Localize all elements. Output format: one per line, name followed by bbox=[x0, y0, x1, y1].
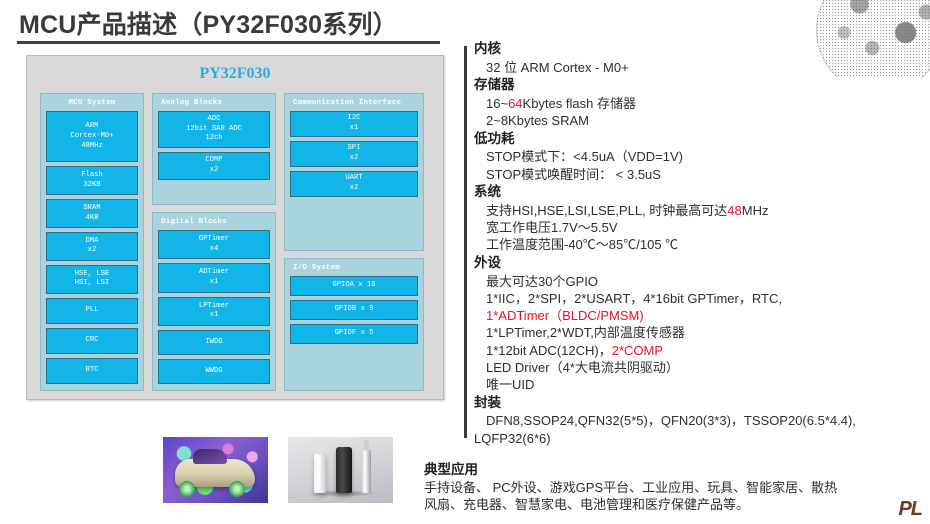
spec-lowpower-wake: STOP模式唤醒时间： < 3.5uS bbox=[486, 166, 924, 183]
diagram-column-mcu: MCU System ARM Cortex-M0+ 48MHz Flash 32… bbox=[40, 93, 144, 391]
block-spi: SPI x2 bbox=[290, 141, 418, 167]
spec-periph-uid: 唯一UID bbox=[486, 376, 924, 393]
group-mcu-system: MCU System ARM Cortex-M0+ 48MHz Flash 32… bbox=[40, 93, 144, 391]
block-gpiob: GPIOB x 9 bbox=[290, 300, 418, 320]
block-uart: UART x2 bbox=[290, 171, 418, 197]
applications-line-1: 手持设备、 PC外设、游戏GPS平台、工业应用、玩具、智能家居、散热 bbox=[424, 479, 894, 497]
brand-logo: PL bbox=[898, 498, 922, 521]
spec-heading-memory: 存储器 bbox=[474, 77, 924, 94]
spec-periph-buses: 1*IIC，2*SPI，2*USART，4*16bit GPTimer，RTC, bbox=[486, 290, 924, 307]
spec-periph-lptimer: 1*LPTimer,2*WDT,内部温度传感器 bbox=[486, 324, 924, 341]
group-title: I/O System bbox=[290, 264, 418, 272]
page-title: MCU产品描述（PY32F030系列） bbox=[19, 5, 398, 41]
block-pll: PLL bbox=[46, 298, 138, 324]
diagram-title: PY32F030 bbox=[27, 65, 443, 83]
toy-car-photo bbox=[163, 437, 268, 503]
spec-core-line: 32 位 ARM Cortex - M0+ bbox=[486, 59, 924, 76]
block-gpiof: GPIOF x 5 bbox=[290, 324, 418, 344]
block-diagram: PY32F030 MCU System ARM Cortex-M0+ 48MHz… bbox=[26, 55, 444, 400]
block-crc: CRC bbox=[46, 328, 138, 354]
block-iwdg: IWDG bbox=[158, 330, 270, 355]
group-title: Analog Blocks bbox=[158, 99, 270, 107]
spec-package-line1: DFN8,SSOP24,QFN32(5*5)，QFN20(3*3)，TSSOP2… bbox=[486, 412, 924, 429]
spec-divider bbox=[464, 46, 467, 438]
block-flash: Flash 32KB bbox=[46, 166, 138, 195]
spec-system-voltage: 宽工作电压1.7V～5.5V bbox=[486, 219, 924, 236]
spec-heading-system: 系统 bbox=[474, 184, 924, 201]
slide-root: MCU产品描述（PY32F030系列） PY32F030 MCU System … bbox=[0, 0, 930, 524]
spec-package-line2: LQFP32(6*6) bbox=[474, 430, 924, 447]
block-gpioa: GPIOA x 16 bbox=[290, 276, 418, 296]
spec-heading-package: 封装 bbox=[474, 395, 924, 412]
comp-count: 2*COMP bbox=[612, 343, 663, 358]
block-comp: COMP x2 bbox=[158, 152, 270, 179]
spec-lowpower-stop: STOP模式下：<4.5uA（VDD=1V) bbox=[486, 148, 924, 165]
title-underline bbox=[17, 41, 440, 44]
group-io-system: I/O System GPIOA x 16 GPIOB x 9 GPIOF x … bbox=[284, 258, 424, 391]
block-adtimer: ADTimer x1 bbox=[158, 263, 270, 292]
flash-unit: Kbytes flash 存储器 bbox=[523, 96, 636, 111]
group-analog-blocks: Analog Blocks ADC 12bit SAR ADC 12ch COM… bbox=[152, 93, 276, 205]
flash-min: 16~ bbox=[486, 96, 508, 111]
e-cigarette-photo bbox=[288, 437, 393, 503]
applications-heading: 典型应用 bbox=[424, 461, 894, 479]
block-sram: SRAM 4KB bbox=[46, 199, 138, 228]
spec-memory-sram: 2~8Kbytes SRAM bbox=[486, 112, 924, 129]
spec-memory-flash: 16~64Kbytes flash 存储器 bbox=[486, 95, 924, 112]
group-title: Communication Interface bbox=[290, 99, 418, 107]
clock-sources: 支持HSI,HSE,LSI,LSE,PLL, 时钟最高可达 bbox=[486, 203, 727, 218]
spec-periph-adc: 1*12bit ADC(12CH)，2*COMP bbox=[486, 342, 924, 359]
spec-list: 内核 32 位 ARM Cortex - M0+ 存储器 16~64Kbytes… bbox=[474, 40, 924, 447]
block-wwdg: WWDG bbox=[158, 359, 270, 384]
block-gptimer: GPTimer x4 bbox=[158, 230, 270, 259]
group-communication-interface: Communication Interface I2C x1 SPI x2 UA… bbox=[284, 93, 424, 251]
spec-heading-lowpower: 低功耗 bbox=[474, 131, 924, 148]
block-arm-core: ARM Cortex-M0+ 48MHz bbox=[46, 111, 138, 162]
spec-periph-gpio: 最大可达30个GPIO bbox=[486, 273, 924, 290]
clock-max-value: 48 bbox=[727, 203, 741, 218]
group-title: MCU System bbox=[46, 99, 138, 107]
block-lptimer: LPTimer x1 bbox=[158, 297, 270, 326]
flash-max: 64 bbox=[508, 96, 522, 111]
spec-heading-core: 内核 bbox=[474, 41, 924, 58]
group-digital-blocks: Digital Blocks GPTimer x4 ADTimer x1 LPT… bbox=[152, 212, 276, 391]
diagram-columns: MCU System ARM Cortex-M0+ 48MHz Flash 32… bbox=[40, 93, 434, 391]
spec-system-temp: 工作温度范围-40℃～85℃/105 ℃ bbox=[486, 236, 924, 253]
diagram-column-analog-digital: Analog Blocks ADC 12bit SAR ADC 12ch COM… bbox=[152, 93, 276, 391]
spec-periph-led: LED Driver（4*大电流共阴驱动） bbox=[486, 359, 924, 376]
block-oscillators: HSE, LSE HSI, LSI bbox=[46, 265, 138, 294]
spec-heading-peripherals: 外设 bbox=[474, 255, 924, 272]
diagram-column-comm-io: Communication Interface I2C x1 SPI x2 UA… bbox=[284, 93, 424, 391]
applications-section: 典型应用 手持设备、 PC外设、游戏GPS平台、工业应用、玩具、智能家居、散热 … bbox=[424, 461, 894, 514]
block-i2c: I2C x1 bbox=[290, 111, 418, 137]
spec-system-clock: 支持HSI,HSE,LSI,LSE,PLL, 时钟最高可达48MHz bbox=[486, 202, 924, 219]
adc-spec: 1*12bit ADC(12CH)， bbox=[486, 343, 612, 358]
applications-line-2: 风扇、充电器、智慧家电、电池管理和医疗保健产品等。 bbox=[424, 496, 894, 514]
spec-periph-adtimer: 1*ADTimer（BLDC/PMSM) bbox=[486, 307, 924, 324]
block-adc: ADC 12bit SAR ADC 12ch bbox=[158, 111, 270, 148]
block-dma: DMA x2 bbox=[46, 232, 138, 261]
group-title: Digital Blocks bbox=[158, 218, 270, 226]
block-rtc: RTC bbox=[46, 358, 138, 384]
clock-max-unit: MHz bbox=[742, 203, 769, 218]
